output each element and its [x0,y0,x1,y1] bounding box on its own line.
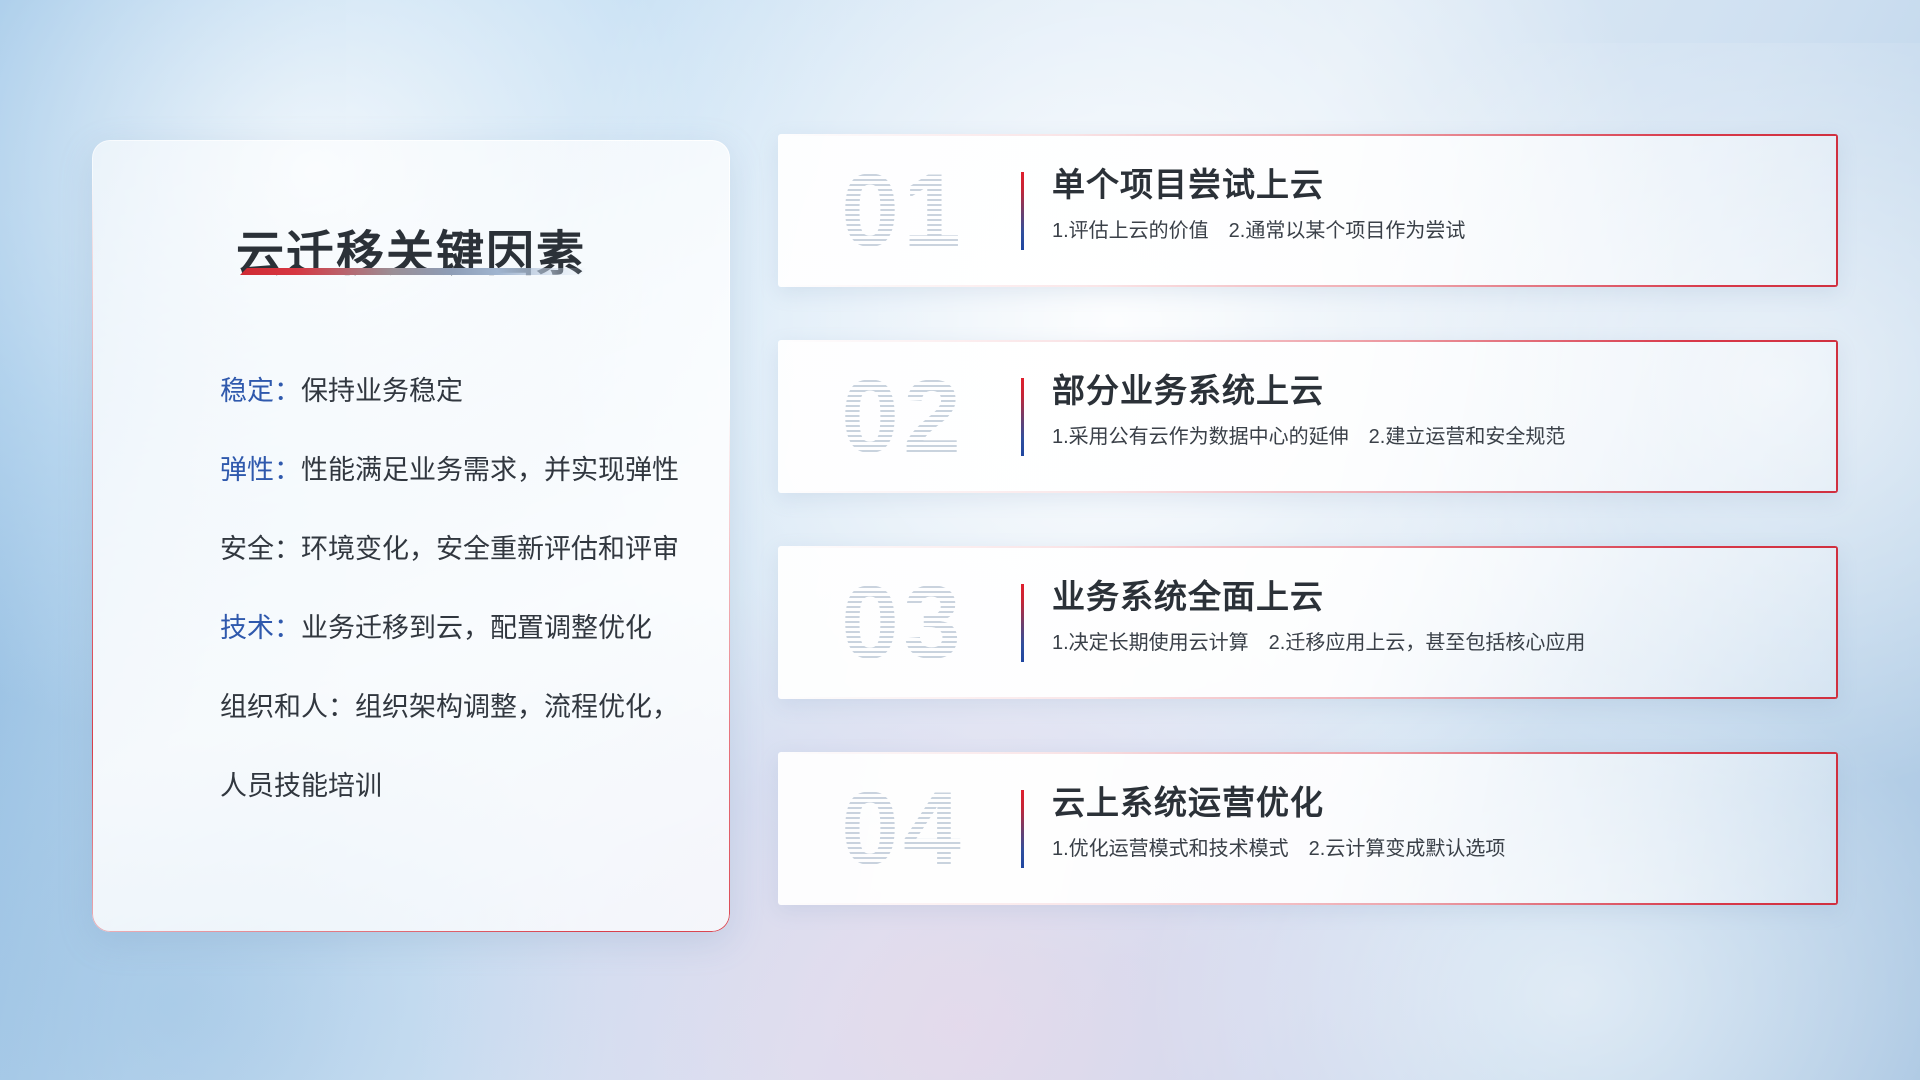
card-right-accent [1836,546,1838,699]
step-card-03[interactable]: 03 业务系统全面上云 1.决定长期使用云计算 2.迁移应用上云，甚至包括核心应… [778,546,1838,699]
factor-text: 人员技能培训 [220,771,382,801]
step-number: 03 [814,561,992,685]
list-item-continuation: 人员技能培训 [220,773,690,800]
step-subtitle: 1.优化运营模式和技术模式 2.云计算变成默认选项 [1052,836,1814,862]
card-divider-bar [1021,584,1024,662]
list-item: 弹性：性能满足业务需求，并实现弹性 [220,457,690,484]
list-item: 安全：环境变化，安全重新评估和评审 [220,536,690,563]
card-bottom-accent [778,491,1838,493]
card-divider-bar [1021,378,1024,456]
factor-text: 环境变化，安全重新评估和评审 [301,534,679,564]
factor-label: 组织和人： [220,692,355,722]
card-right-accent [1836,752,1838,905]
list-item: 组织和人：组织架构调整，流程优化， [220,694,690,721]
step-subtitle: 1.采用公有云作为数据中心的延伸 2.建立运营和安全规范 [1052,424,1814,450]
step-heading: 单个项目尝试上云 [1052,164,1814,205]
card-divider-bar [1021,790,1024,868]
factor-text: 性能满足业务需求，并实现弹性 [301,455,679,485]
factor-label: 稳定： [220,376,301,406]
step-heading: 云上系统运营优化 [1052,782,1814,823]
factor-label: 技术： [220,613,301,643]
step-subtitle: 1.评估上云的价值 2.通常以某个项目作为尝试 [1052,218,1814,244]
card-top-accent [778,340,1838,342]
step-number: 01 [814,149,992,273]
step-card-02[interactable]: 02 部分业务系统上云 1.采用公有云作为数据中心的延伸 2.建立运营和安全规范 [778,340,1838,493]
factor-text: 组织架构调整，流程优化， [355,692,679,722]
migration-steps-list: 01 单个项目尝试上云 1.评估上云的价值 2.通常以某个项目作为尝试 02 部… [778,134,1838,905]
card-divider-bar [1021,172,1024,250]
card-top-accent [778,134,1838,136]
factor-text: 保持业务稳定 [301,376,463,406]
card-bottom-accent [778,285,1838,287]
factor-label: 安全： [220,534,301,564]
card-top-accent [778,752,1838,754]
factor-list: 稳定：保持业务稳定 弹性：性能满足业务需求，并实现弹性 安全：环境变化，安全重新… [220,378,690,800]
factor-text: 业务迁移到云，配置调整优化 [301,613,652,643]
step-number: 04 [814,767,992,891]
slide-stage: 云迁移关键因素 稳定：保持业务稳定 弹性：性能满足业务需求，并实现弹性 安全：环… [0,0,1920,1080]
card-right-accent [1836,340,1838,493]
card-top-accent [778,546,1838,548]
step-number: 02 [814,355,992,479]
factor-label: 弹性： [220,455,301,485]
card-body: 单个项目尝试上云 1.评估上云的价值 2.通常以某个项目作为尝试 [1052,164,1814,244]
step-card-04[interactable]: 04 云上系统运营优化 1.优化运营模式和技术模式 2.云计算变成默认选项 [778,752,1838,905]
key-factors-panel: 云迁移关键因素 稳定：保持业务稳定 弹性：性能满足业务需求，并实现弹性 安全：环… [92,140,730,932]
list-item: 技术：业务迁移到云，配置调整优化 [220,615,690,642]
list-item: 稳定：保持业务稳定 [220,378,690,405]
card-right-accent [1836,134,1838,287]
title-underline-accent [240,268,588,275]
step-heading: 业务系统全面上云 [1052,576,1814,617]
step-heading: 部分业务系统上云 [1052,370,1814,411]
step-subtitle: 1.决定长期使用云计算 2.迁移应用上云，甚至包括核心应用 [1052,630,1814,656]
card-body: 业务系统全面上云 1.决定长期使用云计算 2.迁移应用上云，甚至包括核心应用 [1052,576,1814,656]
card-body: 部分业务系统上云 1.采用公有云作为数据中心的延伸 2.建立运营和安全规范 [1052,370,1814,450]
step-card-01[interactable]: 01 单个项目尝试上云 1.评估上云的价值 2.通常以某个项目作为尝试 [778,134,1838,287]
card-bottom-accent [778,697,1838,699]
card-bottom-accent [778,903,1838,905]
card-body: 云上系统运营优化 1.优化运营模式和技术模式 2.云计算变成默认选项 [1052,782,1814,862]
